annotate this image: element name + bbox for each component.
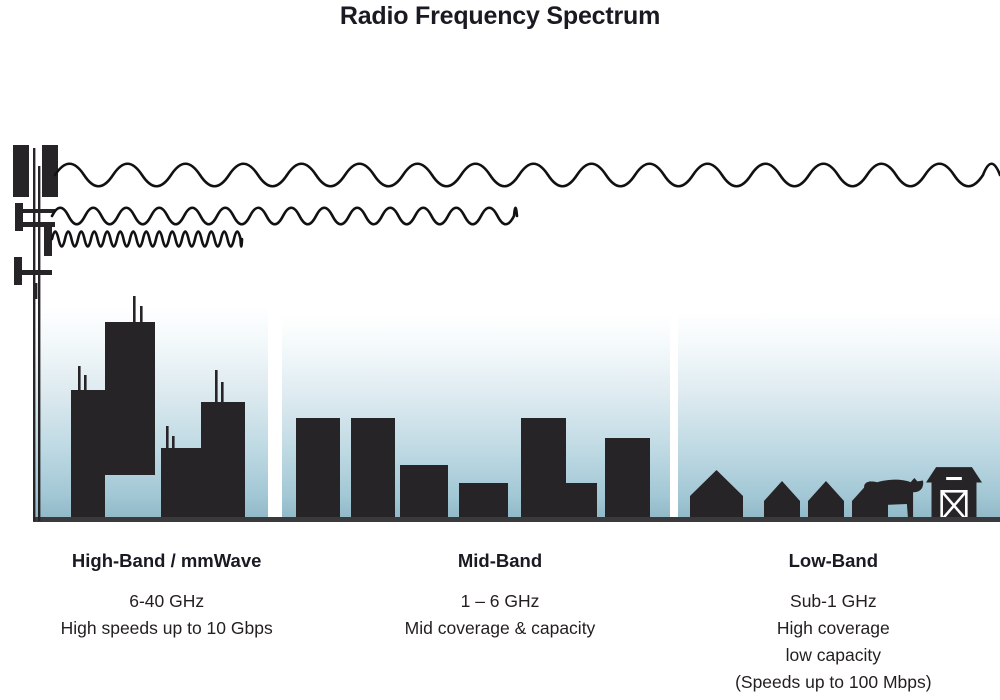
- tower-mast-left: [33, 148, 35, 521]
- midrise-building-1: [296, 418, 340, 521]
- barn-hayloft-window: [946, 477, 962, 480]
- midrise-building-3: [400, 465, 448, 521]
- low-frequency-wave: [55, 164, 1000, 187]
- band-desc-low-line-1: Sub-1 GHz: [667, 588, 1000, 615]
- building-spire: [221, 382, 224, 404]
- barn-wall: [932, 483, 977, 522]
- antenna-small-2: [44, 226, 52, 256]
- skyscraper-3: [161, 448, 201, 521]
- band-labels: High-Band / mmWave 6-40 GHz High speeds …: [0, 540, 1000, 700]
- band-desc-mid: 1 – 6 GHz Mid coverage & capacity: [333, 588, 666, 642]
- band-desc-low-line-2: High coverage: [667, 615, 1000, 642]
- tower-crossbar-1: [22, 209, 55, 213]
- tower-crossbar-3: [20, 270, 52, 275]
- band-desc-high-line-1: 6-40 GHz: [0, 588, 333, 615]
- midrise-building-5: [521, 418, 566, 521]
- band-desc-mid-line-2: Mid coverage & capacity: [333, 615, 666, 642]
- band-desc-high: 6-40 GHz High speeds up to 10 Gbps: [0, 588, 333, 642]
- building-spire: [78, 366, 81, 392]
- ground-line-bar: [33, 517, 1000, 522]
- building-spire: [84, 375, 87, 392]
- band-desc-mid-line-1: 1 – 6 GHz: [333, 588, 666, 615]
- band-column-mid: Mid-Band 1 – 6 GHz Mid coverage & capaci…: [333, 540, 666, 700]
- band-column-low: Low-Band Sub-1 GHz High coverage low cap…: [667, 540, 1000, 700]
- band-desc-high-line-2: High speeds up to 10 Gbps: [0, 615, 333, 642]
- building-spire: [140, 306, 143, 324]
- midrise-building-2: [351, 418, 395, 521]
- building-spire: [215, 370, 218, 404]
- band-column-high: High-Band / mmWave 6-40 GHz High speeds …: [0, 540, 333, 700]
- building-spire: [133, 296, 136, 324]
- ground-line: [33, 517, 1000, 522]
- infographic-root: Radio Frequency Spectrum High-Band / mmW…: [0, 0, 1000, 700]
- antenna-panel-1: [13, 145, 29, 197]
- antenna-small-1: [15, 203, 23, 231]
- skyscraper-1: [71, 390, 105, 521]
- skyscraper-4: [201, 402, 245, 521]
- band-desc-low-line-4: (Speeds up to 100 Mbps): [667, 669, 1000, 696]
- mid-frequency-wave: [52, 208, 517, 225]
- band-desc-low-line-3: low capacity: [667, 642, 1000, 669]
- tower-stub: [35, 283, 37, 299]
- midrise-building-4: [459, 483, 508, 521]
- band-title-mid: Mid-Band: [333, 548, 666, 574]
- midrise-building-7: [605, 438, 650, 521]
- band-title-low: Low-Band: [667, 548, 1000, 574]
- band-title-high: High-Band / mmWave: [0, 548, 333, 574]
- high-frequency-wave: [52, 232, 242, 247]
- antenna-panel-2: [42, 145, 58, 197]
- band-desc-low: Sub-1 GHz High coverage low capacity (Sp…: [667, 588, 1000, 696]
- spectrum-illustration: [0, 0, 1000, 540]
- building-spire: [166, 426, 169, 450]
- tower-crossbar-2: [22, 222, 55, 227]
- midrise-building-6: [566, 483, 597, 521]
- skyscraper-2: [105, 322, 155, 475]
- radio-waves: [52, 164, 1000, 247]
- tower-mast-right: [38, 166, 40, 521]
- building-spire: [172, 436, 175, 450]
